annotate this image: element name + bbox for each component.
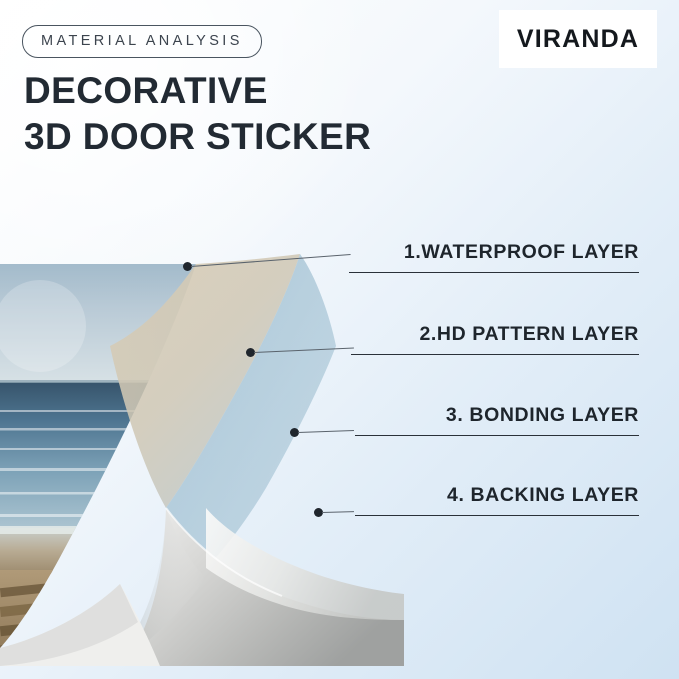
callout-label-1: 1.WATERPROOF LAYER bbox=[404, 241, 639, 269]
callout-rule-3 bbox=[355, 435, 639, 436]
callout-label-2: 2.HD PATTERN LAYER bbox=[419, 323, 639, 351]
callout-label-3: 3. BONDING LAYER bbox=[446, 404, 639, 432]
callout-rule-4 bbox=[355, 515, 639, 516]
peel-illustration-svg bbox=[0, 196, 420, 666]
brand-logo-box: VIRANDA bbox=[499, 10, 657, 68]
page-title: DECORATIVE 3D DOOR STICKER bbox=[24, 68, 371, 160]
product-illustration bbox=[0, 196, 420, 666]
callout-label-4: 4. BACKING LAYER bbox=[447, 484, 639, 512]
callout-rule-1 bbox=[349, 272, 639, 273]
callout-rule-2 bbox=[351, 354, 639, 355]
brand-name: VIRANDA bbox=[517, 25, 639, 54]
eyebrow-badge: MATERIAL ANALYSIS bbox=[22, 25, 262, 58]
poster-canvas: MATERIAL ANALYSIS DECORATIVE 3D DOOR STI… bbox=[0, 0, 679, 679]
